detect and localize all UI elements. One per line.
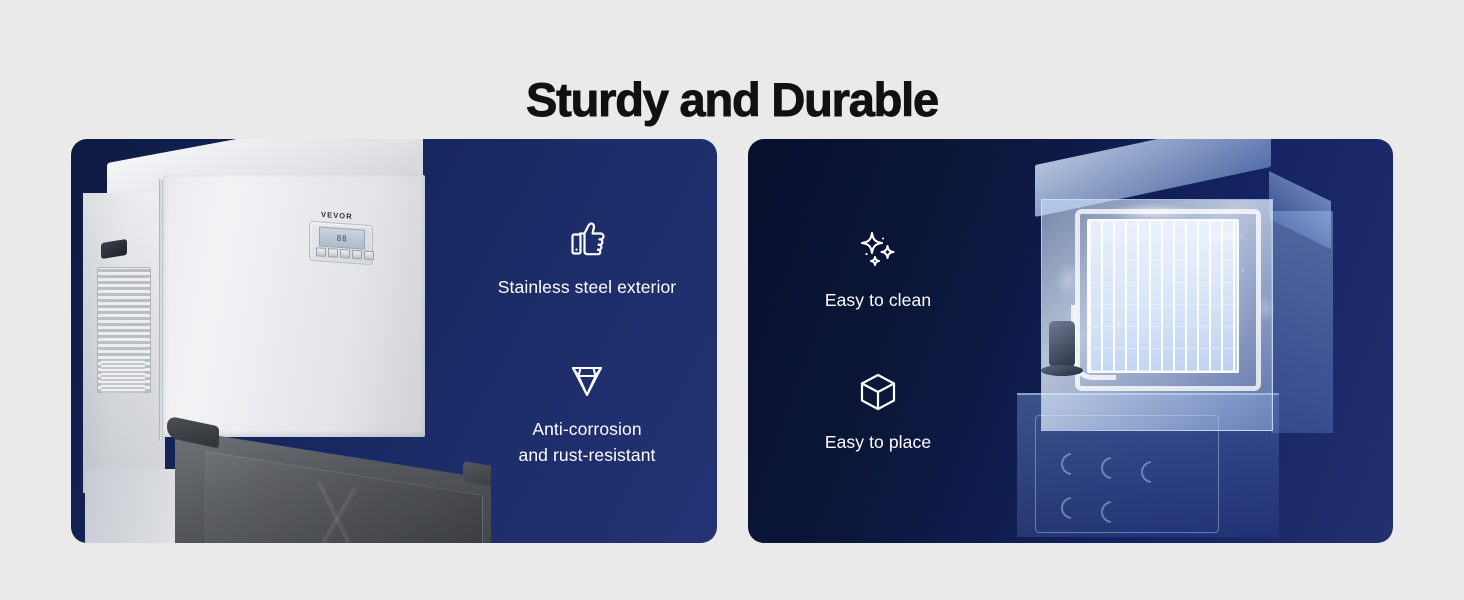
diamond-icon xyxy=(563,355,611,403)
product-feature-banner: Sturdy and Durable VEVOR 88 xyxy=(0,0,1464,600)
stainless-feature-card: VEVOR 88 xyxy=(71,139,717,543)
xray-feature-card: Easy to clean Easy to place xyxy=(748,139,1393,543)
machine-button xyxy=(328,248,338,258)
xray-unit xyxy=(983,153,1383,543)
feature-stainless-steel-exterior: Stainless steel exterior xyxy=(457,213,717,301)
xray-ice-machine-interior xyxy=(963,139,1393,543)
feature-cards-row: VEVOR 88 xyxy=(71,139,1393,543)
machine-panel-seam xyxy=(159,179,163,441)
machine-lcd-value: 88 xyxy=(337,233,348,243)
feature-label: Anti-corrosion and rust-resistant xyxy=(519,417,656,469)
xray-pump-base xyxy=(1041,365,1083,376)
stainless-feature-list: Stainless steel exterior Anti-corrosion … xyxy=(457,139,717,543)
machine-button xyxy=(340,249,350,259)
machine-control-panel: 88 xyxy=(309,221,373,265)
machine-front-face xyxy=(163,175,425,437)
page-title: Sturdy and Durable xyxy=(0,75,1464,124)
machine-button-row xyxy=(316,247,374,260)
machine-button xyxy=(316,247,326,257)
machine-vent-grille-lower xyxy=(101,359,145,393)
xray-bin-door-panel xyxy=(1035,415,1219,533)
thumbs-up-icon xyxy=(563,213,611,261)
sparkles-icon xyxy=(854,226,902,274)
feature-anti-corrosion: Anti-corrosion and rust-resistant xyxy=(457,355,717,469)
machine-lcd-display: 88 xyxy=(319,226,365,249)
feature-label: Easy to place xyxy=(825,430,931,456)
cube-icon xyxy=(854,368,902,416)
machine-button xyxy=(364,251,374,261)
xray-water-pump xyxy=(1049,321,1075,367)
feature-label: Easy to clean xyxy=(825,288,931,314)
feature-label: Stainless steel exterior xyxy=(498,275,676,301)
stainless-ice-machine-photo: VEVOR 88 xyxy=(71,139,491,543)
machine-button xyxy=(352,250,362,260)
